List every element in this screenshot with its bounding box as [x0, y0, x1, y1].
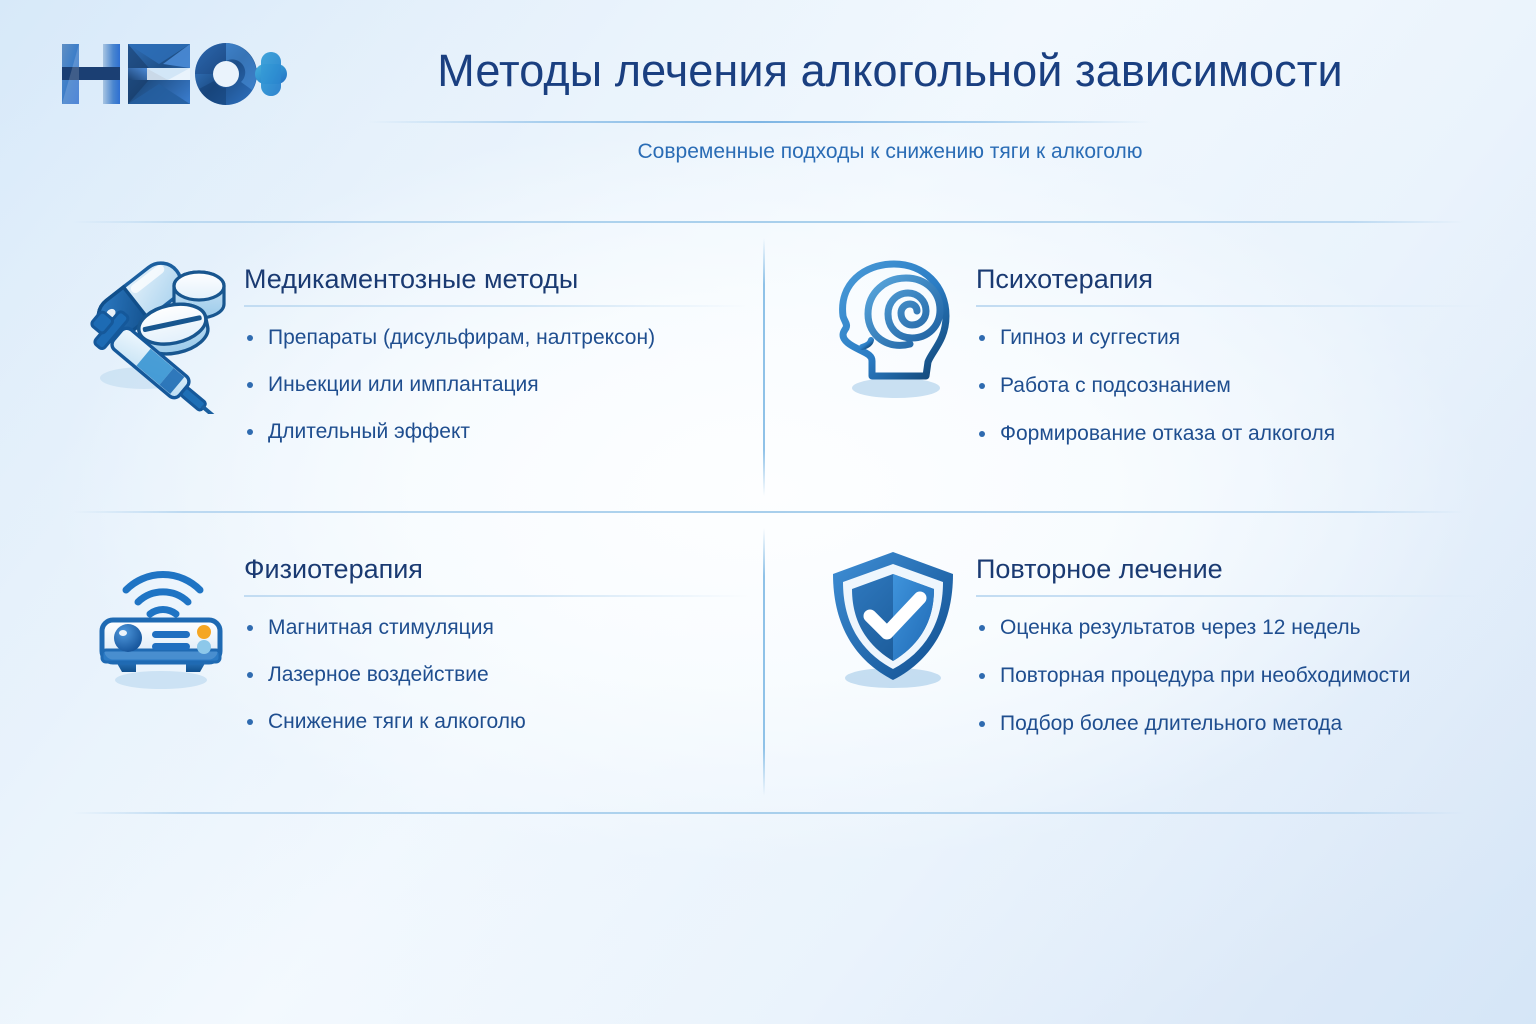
bullet-dot-icon [979, 625, 985, 631]
bullet-list: Гипноз и суггестия Работа с подсознанием… [976, 325, 1482, 447]
card-body: Медикаментозные методы Препараты (дисуль… [244, 248, 750, 445]
bullet-dot-icon [979, 673, 985, 679]
card-medication[interactable]: Медикаментозные методы Препараты (дисуль… [78, 248, 750, 445]
list-item-label: Подбор более длительного метода [1000, 712, 1342, 735]
bullet-dot-icon [979, 431, 985, 437]
list-item: Подбор более длительного метода [976, 711, 1482, 737]
list-item: Снижение тяги к алкоголю [244, 709, 750, 735]
list-item-label: Повторная процедура при необходимости [1000, 664, 1410, 687]
list-item-label: Оценка результатов через 12 недель [1000, 616, 1361, 639]
card-title: Медикаментозные методы [244, 262, 750, 296]
card-title-rule [244, 305, 750, 307]
card-body: Повторное лечение Оценка результатов чер… [976, 538, 1482, 759]
head-spiral-icon [810, 248, 976, 414]
bullet-dot-icon [247, 429, 253, 435]
list-item: Повторная процедура при необходимости [976, 663, 1482, 689]
divider-middle [72, 511, 1464, 513]
infographic-page: Методы лечения алкогольной зависимости С… [0, 0, 1536, 1024]
card-title-rule [976, 595, 1482, 597]
card-title: Физиотерапия [244, 552, 750, 586]
list-item: Лазерное воздействие [244, 662, 750, 688]
bullet-dot-icon [979, 383, 985, 389]
list-item: Длительный эффект [244, 419, 750, 445]
list-item: Магнитная стимуляция [244, 615, 750, 641]
logo-letter-e [128, 44, 190, 104]
divider-bottom [72, 812, 1464, 814]
shield-check-icon [810, 538, 976, 704]
bullet-list: Препараты (дисульфирам, налтрексон) Инье… [244, 325, 750, 445]
bullet-dot-icon [247, 625, 253, 631]
card-title-rule [976, 305, 1482, 307]
divider-vertical-top [763, 238, 765, 496]
bullet-dot-icon [247, 382, 253, 388]
bullet-dot-icon [247, 719, 253, 725]
divider-vertical-bottom [763, 528, 765, 796]
list-item-label: Лазерное воздействие [268, 663, 489, 686]
list-item-label: Длительный эффект [268, 420, 470, 443]
list-item: Иньекции или имплантация [244, 372, 750, 398]
page-subtitle: Современные подходы к снижению тяги к ал… [300, 137, 1480, 167]
card-body: Психотерапия Гипноз и суггестия Работа с… [976, 248, 1482, 469]
bullet-dot-icon [247, 672, 253, 678]
card-title: Повторное лечение [976, 552, 1482, 586]
bullet-dot-icon [247, 335, 253, 341]
card-body: Физиотерапия Магнитная стимуляция Лазерн… [244, 538, 750, 735]
pills-syringe-icon [78, 248, 244, 414]
list-item: Формирование отказа от алкоголя [976, 421, 1482, 447]
title-rule [368, 121, 1152, 123]
list-item-label: Формирование отказа от алкоголя [1000, 422, 1335, 445]
page-title: Методы лечения алкогольной зависимости [300, 42, 1480, 100]
list-item-label: Гипноз и суггестия [1000, 326, 1180, 349]
list-item: Гипноз и суггестия [976, 325, 1482, 351]
list-item-label: Магнитная стимуляция [268, 616, 494, 639]
card-physiotherapy[interactable]: Физиотерапия Магнитная стимуляция Лазерн… [78, 538, 750, 735]
card-psychotherapy[interactable]: Психотерапия Гипноз и суггестия Работа с… [810, 248, 1482, 469]
bullet-list: Магнитная стимуляция Лазерное воздействи… [244, 615, 750, 735]
list-item-label: Иньекции или имплантация [268, 373, 539, 396]
card-title: Психотерапия [976, 262, 1482, 296]
bullet-list: Оценка результатов через 12 недель Повто… [976, 615, 1482, 737]
therapy-device-icon [78, 538, 244, 704]
bullet-dot-icon [979, 335, 985, 341]
card-repeat-treatment[interactable]: Повторное лечение Оценка результатов чер… [810, 538, 1482, 759]
list-item: Работа с подсознанием [976, 373, 1482, 399]
list-item-label: Снижение тяги к алкоголю [268, 710, 526, 733]
brand-logo[interactable] [56, 38, 288, 110]
page-header: Методы лечения алкогольной зависимости С… [0, 0, 1536, 200]
list-item-label: Препараты (дисульфирам, налтрексон) [268, 326, 655, 349]
logo-letter-h [62, 44, 120, 104]
logo-letter-o [195, 43, 257, 105]
divider-top [72, 221, 1464, 223]
logo-plus-icon [255, 52, 287, 96]
list-item: Препараты (дисульфирам, налтрексон) [244, 325, 750, 351]
list-item: Оценка результатов через 12 недель [976, 615, 1482, 641]
bullet-dot-icon [979, 721, 985, 727]
card-title-rule [244, 595, 750, 597]
list-item-label: Работа с подсознанием [1000, 374, 1231, 397]
